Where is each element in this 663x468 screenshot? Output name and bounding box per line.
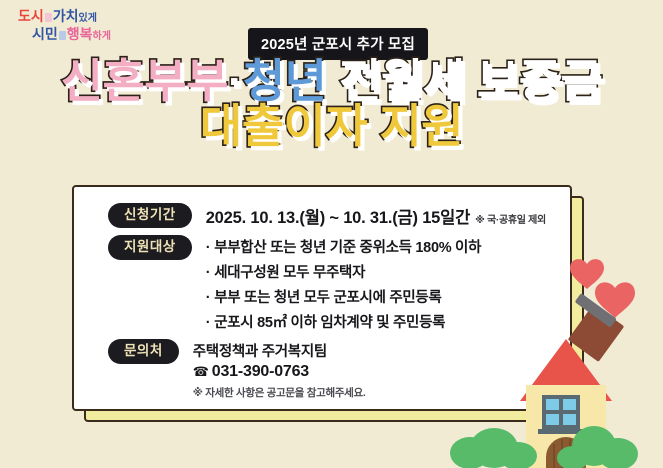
support-target-row: 지원대상 부부합산 또는 청년 기준 중위소득 180% 이하 세대구성원 모두… — [108, 235, 481, 336]
contact-row: 문의처 주택정책과 주거복지팀 ☎031-390-0763 ※ 자세한 사항은 … — [108, 339, 366, 400]
slogan-suffix-2: 하게 — [93, 31, 111, 42]
contact-phone-line: ☎031-390-0763 — [193, 363, 366, 381]
contact-label: 문의처 — [108, 339, 179, 364]
application-period-body: 2025. 10. 13.(월) ~ 10. 31.(금) 15일간※ 국·공휴… — [206, 203, 546, 228]
list-item: 부부 또는 청년 모두 군포시에 주민등록 — [206, 286, 481, 311]
city-slogan: 도시가치있게 시민행복하게 — [18, 8, 218, 43]
application-period-label: 신청기간 — [108, 203, 192, 228]
contact-body: 주택정책과 주거복지팀 ☎031-390-0763 ※ 자세한 사항은 공고문을… — [193, 339, 366, 400]
list-item: 세대구성원 모두 무주택자 — [206, 261, 481, 286]
support-target-body: 부부합산 또는 청년 기준 중위소득 180% 이하 세대구성원 모두 무주택자… — [206, 235, 481, 336]
poster-root: 도시가치있게 시민행복하게 2025년 군포시 추가 모집 신혼부부·청년 전월… — [0, 0, 663, 468]
slogan-word-haengbok: 행복 — [67, 26, 93, 42]
list-item: 군포시 85㎡ 이하 임차계약 및 주민등록 — [206, 311, 481, 336]
contact-department: 주택정책과 주거복지팀 — [193, 340, 366, 361]
bush-icon — [450, 428, 537, 468]
page-title: 신혼부부·청년 전월세 보증금 대출이자 지원 — [0, 58, 663, 150]
bush-icon — [557, 426, 638, 468]
bushes-decoration — [436, 408, 663, 468]
contact-phone-number: 031-390-0763 — [212, 363, 309, 380]
slogan-chip-2 — [59, 31, 66, 40]
telephone-icon: ☎ — [193, 364, 209, 379]
headline-loan-interest-support: 대출이자 지원 — [200, 100, 463, 152]
support-target-list: 부부합산 또는 청년 기준 중위소득 180% 이하 세대구성원 모두 무주택자… — [206, 236, 481, 336]
application-period-note: ※ 국·공휴일 제외 — [475, 215, 546, 226]
contact-note: ※ 자세한 사항은 공고문을 참고해주세요. — [193, 385, 366, 400]
slogan-word-gachi: 가치 — [53, 8, 79, 24]
slogan-word-simin: 시민 — [32, 26, 58, 42]
slogan-line-2: 시민행복하게 — [18, 26, 218, 44]
list-item: 부부합산 또는 청년 기준 중위소득 180% 이하 — [206, 236, 481, 261]
slogan-word-dosi: 도시 — [18, 8, 44, 24]
application-period-value: 2025. 10. 13.(월) ~ 10. 31.(금) 15일간 — [206, 209, 470, 227]
support-target-label: 지원대상 — [108, 235, 192, 260]
application-period-row: 신청기간 2025. 10. 13.(월) ~ 10. 31.(금) 15일간※… — [108, 203, 546, 228]
slogan-line-1: 도시가치있게 — [18, 8, 218, 26]
headline-line-2: 대출이자 지원 — [0, 103, 663, 150]
slogan-chip-1 — [45, 13, 52, 22]
headline-line-1: 신혼부부·청년 전월세 보증금 — [0, 58, 663, 105]
slogan-suffix-1: 있게 — [79, 13, 97, 24]
